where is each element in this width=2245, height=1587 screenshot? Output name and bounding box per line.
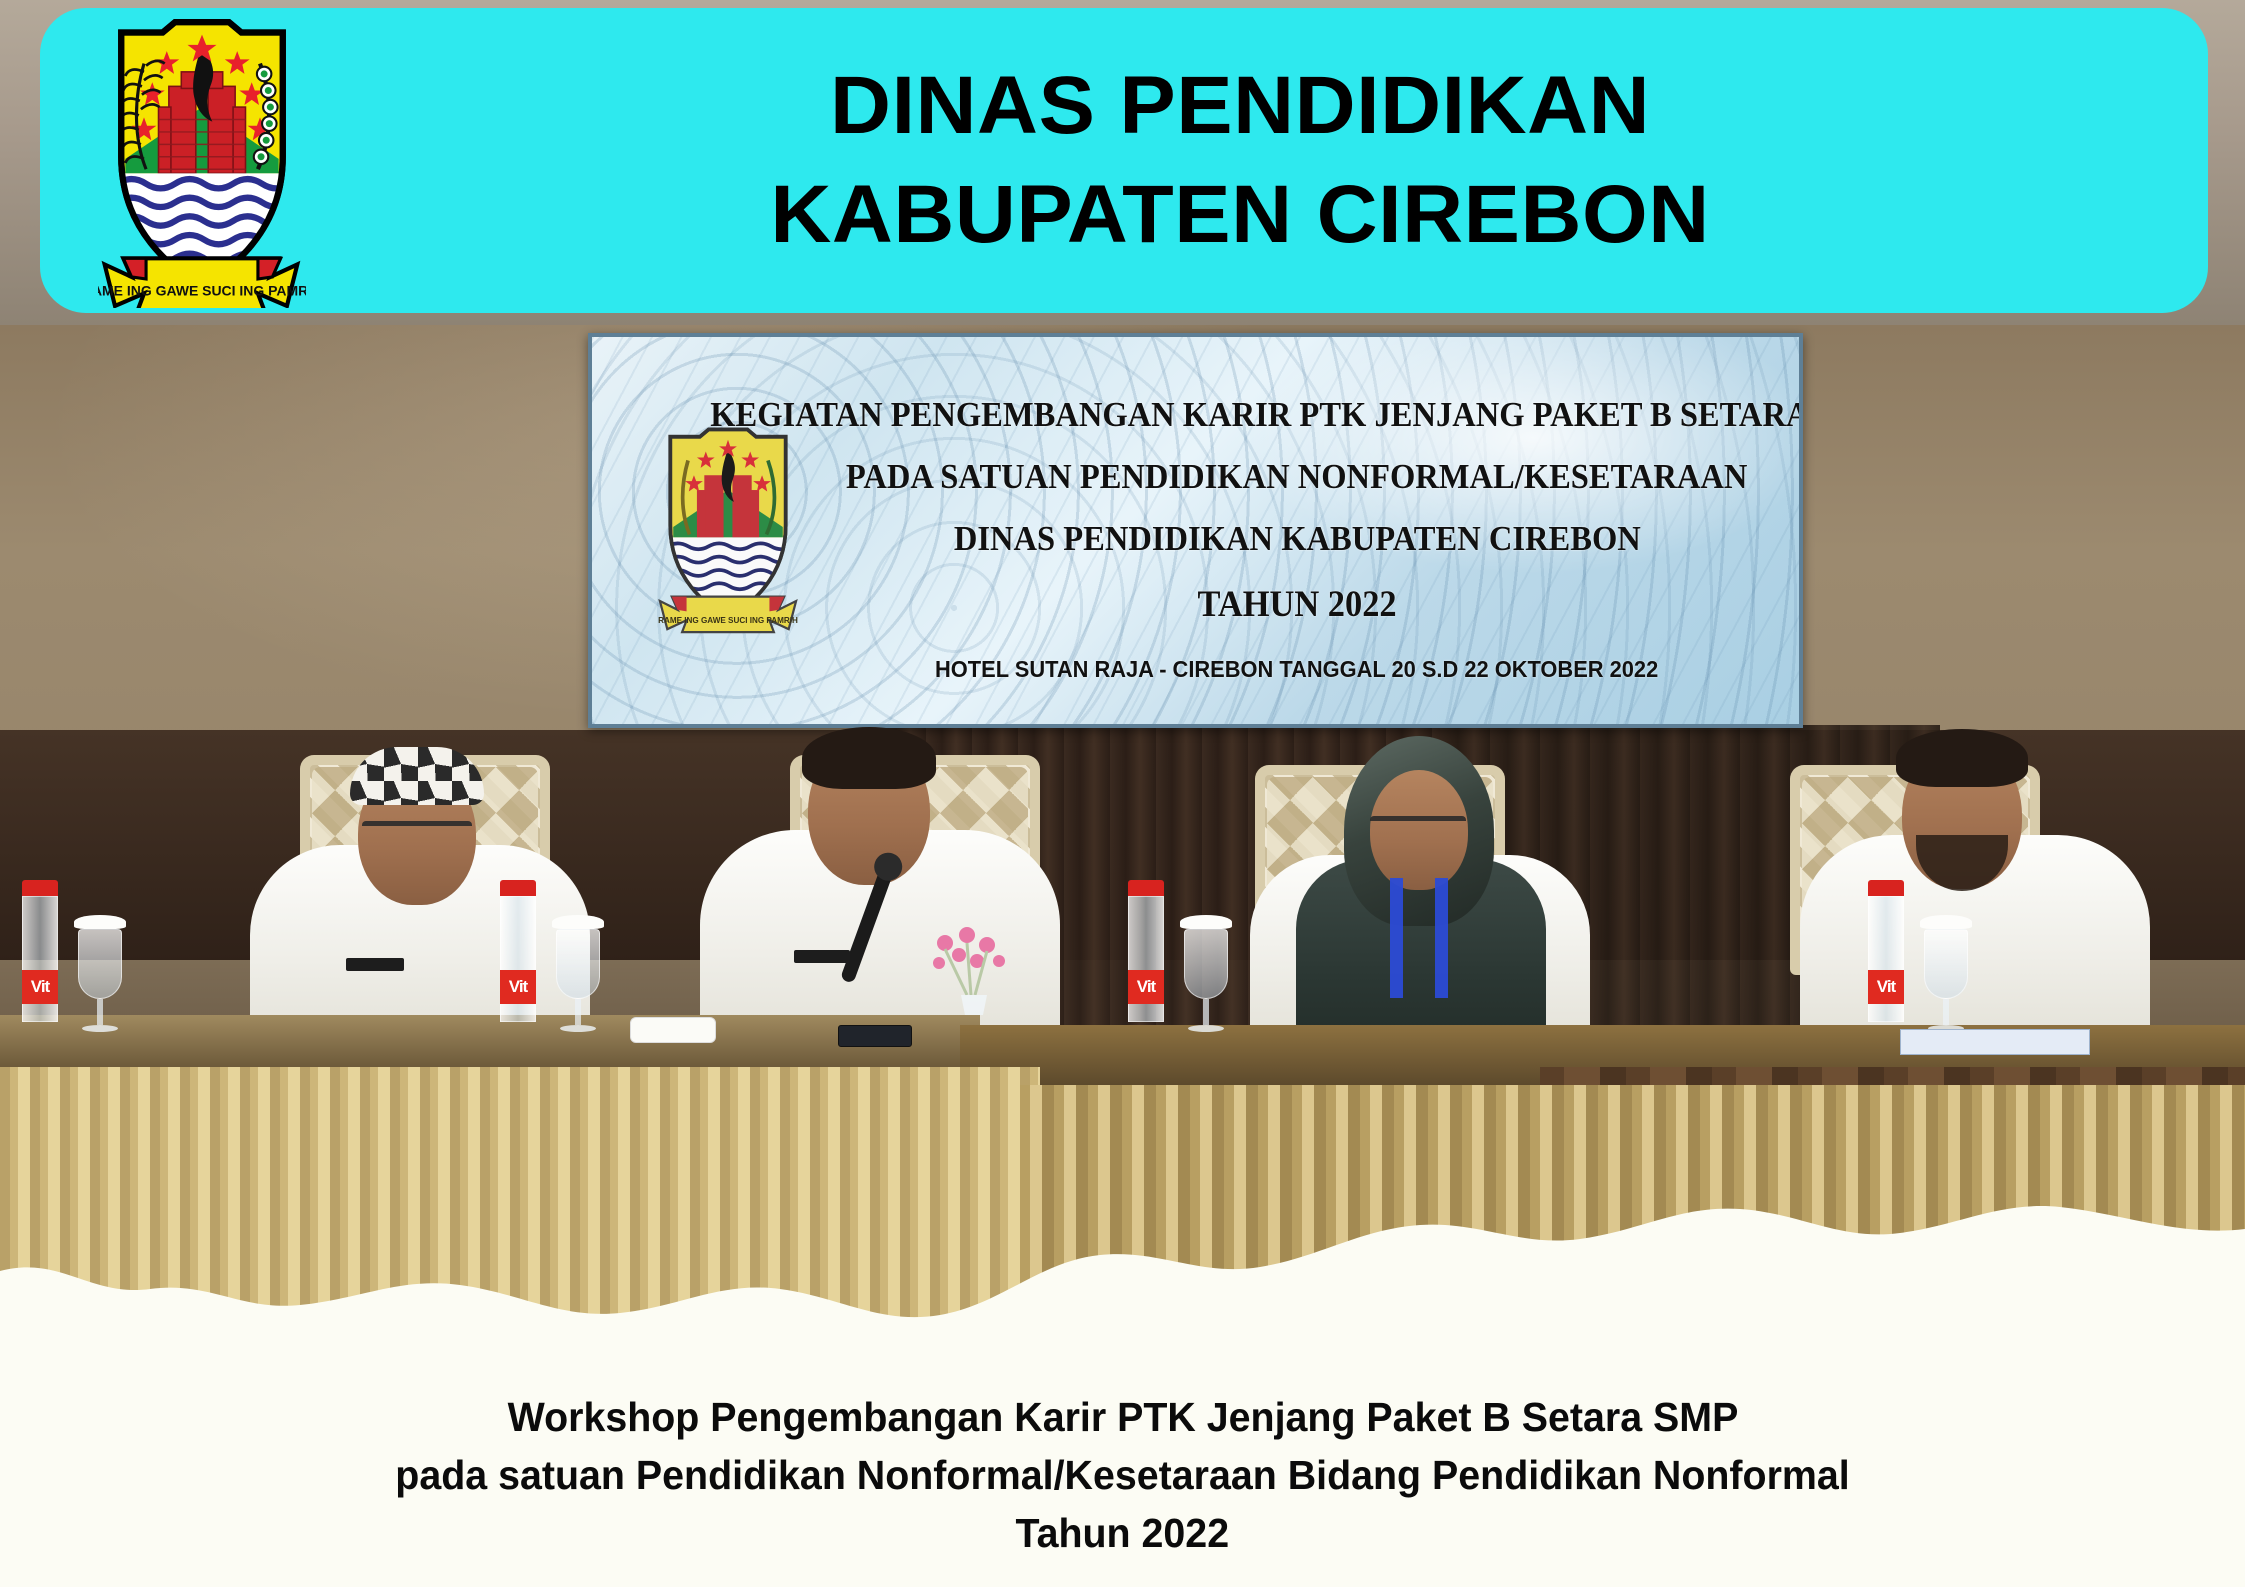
- glass-cover-2: [552, 915, 604, 929]
- crest-motto-text: RAME ING GAWE SUCI ING PAMRIH: [98, 283, 306, 299]
- person-1-name-badge: [346, 958, 404, 971]
- banner-crest-motto: RAME ING GAWE SUCI ING PAMRIH: [658, 616, 798, 625]
- person-1: [240, 725, 600, 1055]
- banner-crest-icon: RAME ING GAWE SUCI ING PAMRIH: [654, 425, 802, 635]
- person-3-glasses-icon: [1370, 816, 1466, 834]
- backdrop-line-3: DINAS PENDIDIKAN KABUPATEN CIREBON: [954, 519, 1641, 559]
- glass-bowl-3: [1184, 929, 1228, 999]
- glass-cover-3: [1180, 915, 1232, 929]
- water-bottle-2: Vit: [500, 880, 536, 1022]
- cirebon-regency-crest-icon: RAME ING GAWE SUCI ING PAMRIH: [98, 18, 306, 308]
- poster-page: RAME ING GAWE SUCI ING PAMRIH DINAS PEND…: [0, 0, 2245, 1587]
- event-photo: RAME ING GAWE SUCI ING PAMRIH KEGIATAN P…: [0, 325, 2245, 1355]
- caption-block: Workshop Pengembangan Karir PTK Jenjang …: [0, 1370, 2245, 1587]
- glass-foot-3: [1188, 1025, 1224, 1032]
- water-glass-4: [1924, 915, 1968, 1032]
- person-1-glasses-icon: [362, 821, 472, 839]
- water-glass-1: [78, 915, 122, 1032]
- glass-bowl-4: [1924, 929, 1968, 999]
- person-2-hair: [802, 727, 936, 789]
- event-backdrop-banner: RAME ING GAWE SUCI ING PAMRIH KEGIATAN P…: [588, 333, 1803, 728]
- bottle-cap-2: [500, 880, 536, 896]
- water-bottle-4: Vit: [1868, 880, 1904, 1022]
- person-3-lanyard: [1390, 878, 1448, 998]
- backdrop-line-5: HOTEL SUTAN RAJA - CIREBON TANGGAL 20 S.…: [935, 656, 1658, 683]
- header-banner: RAME ING GAWE SUCI ING PAMRIH DINAS PEND…: [0, 0, 2245, 325]
- bottle-label-1: Vit: [22, 970, 58, 1004]
- bottle-label-4: Vit: [1868, 970, 1904, 1004]
- backdrop-line-2: PADA SATUAN PENDIDIKAN NONFORMAL/KESETAR…: [846, 457, 1748, 497]
- person-2-name-badge: [794, 950, 850, 963]
- glass-cover-1: [74, 915, 126, 929]
- caption-line-2: pada satuan Pendidikan Nonformal/Kesetar…: [395, 1446, 1849, 1504]
- glass-bowl-2: [556, 929, 600, 999]
- caption-line-3: Tahun 2022: [1016, 1504, 1230, 1562]
- documents-on-table: [1900, 1029, 2090, 1055]
- person-1-batik-headwrap-icon: [350, 747, 484, 805]
- header-card: RAME ING GAWE SUCI ING PAMRIH DINAS PEND…: [40, 8, 2208, 313]
- glass-stem-2: [575, 999, 581, 1025]
- glass-stem-3: [1203, 999, 1209, 1025]
- phone-on-table: [838, 1025, 912, 1047]
- water-bottle-1: Vit: [22, 880, 58, 1022]
- water-bottle-3: Vit: [1128, 880, 1164, 1022]
- bottle-cap-3: [1128, 880, 1164, 896]
- tissue-on-table: [630, 1017, 716, 1043]
- water-glass-2: [556, 915, 600, 1032]
- bottle-label-2: Vit: [500, 970, 536, 1004]
- photo-torn-edge: [0, 1185, 2245, 1355]
- glass-foot-1: [82, 1025, 118, 1032]
- person-3: [1240, 720, 1600, 1055]
- glass-foot-2: [560, 1025, 596, 1032]
- header-title-line-1: DINAS PENDIDIKAN: [830, 52, 1650, 160]
- person-4: [1790, 715, 2160, 1055]
- glass-stem-4: [1943, 999, 1949, 1025]
- glass-stem-1: [97, 999, 103, 1025]
- water-glass-3: [1184, 915, 1228, 1032]
- glass-bowl-1: [78, 929, 122, 999]
- header-title-block: DINAS PENDIDIKAN KABUPATEN CIREBON: [340, 8, 2140, 313]
- flower-vase: [915, 925, 1035, 1015]
- table-top-left: [0, 1015, 980, 1067]
- bottle-label-3: Vit: [1128, 970, 1164, 1004]
- bottle-cap-1: [22, 880, 58, 896]
- backdrop-line-1: KEGIATAN PENGEMBANGAN KARIR PTK JENJANG …: [710, 395, 1803, 435]
- person-4-hair: [1896, 729, 2028, 787]
- glass-cover-4: [1920, 915, 1972, 929]
- backdrop-line-4: TAHUN 2022: [1197, 583, 1396, 626]
- header-title-line-2: KABUPATEN CIREBON: [770, 161, 1709, 269]
- bottle-cap-4: [1868, 880, 1904, 896]
- caption-line-1: Workshop Pengembangan Karir PTK Jenjang …: [507, 1388, 1738, 1446]
- backdrop-text-block: KEGIATAN PENGEMBANGAN KARIR PTK JENJANG …: [802, 381, 1792, 711]
